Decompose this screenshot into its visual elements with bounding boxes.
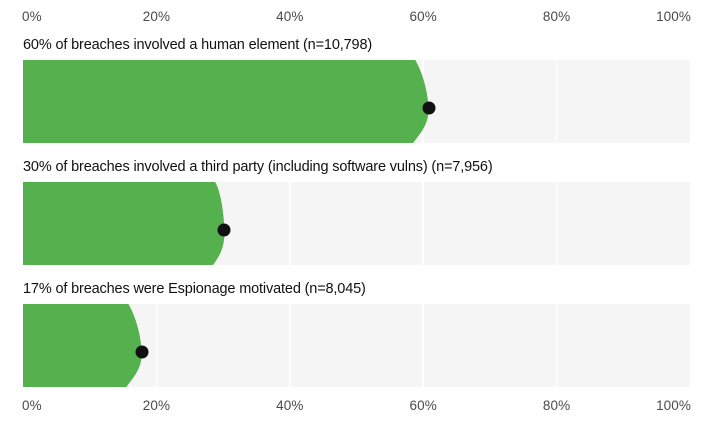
axis-top-tick-100: 100% (656, 8, 691, 26)
axis-top-tick-40: 40% (276, 8, 303, 26)
gridline (422, 60, 424, 143)
bar-fill (23, 304, 156, 387)
axis-bottom-tick-60: 60% (410, 397, 437, 415)
bar-track (23, 182, 690, 265)
axis-bottom-tick-0: 0% (22, 397, 42, 415)
gridline (156, 60, 158, 143)
axis-bottom-tick-40: 40% (276, 397, 303, 415)
gridline (156, 182, 158, 265)
gridline (289, 182, 291, 265)
bar-fill (23, 60, 443, 143)
gridline (156, 304, 158, 387)
gridline (556, 182, 558, 265)
point-marker (218, 224, 231, 237)
gridline (556, 60, 558, 143)
axis-top: 0% 20% 40% 60% 80% 100% (0, 8, 728, 26)
axis-top-tick-20: 20% (143, 8, 170, 26)
bar-label: 60% of breaches involved a human element… (23, 36, 372, 54)
point-marker (422, 102, 435, 115)
gridline (422, 304, 424, 387)
bar-fill (23, 182, 239, 265)
breach-statistics-chart: 0% 20% 40% 60% 80% 100% 60% of breaches … (0, 0, 728, 430)
bar-label: 17% of breaches were Espionage motivated… (23, 280, 366, 298)
gridline (556, 304, 558, 387)
axis-top-tick-0: 0% (22, 8, 42, 26)
point-marker (135, 346, 148, 359)
bar-track (23, 304, 690, 387)
gridline (422, 182, 424, 265)
axis-bottom-tick-100: 100% (656, 397, 691, 415)
bar-track (23, 60, 690, 143)
gridline (289, 304, 291, 387)
axis-bottom: 0% 20% 40% 60% 80% 100% (0, 397, 728, 415)
axis-top-tick-60: 60% (410, 8, 437, 26)
axis-bottom-tick-80: 80% (543, 397, 570, 415)
bar-label: 30% of breaches involved a third party (… (23, 158, 493, 176)
axis-top-tick-80: 80% (543, 8, 570, 26)
gridline (289, 60, 291, 143)
axis-bottom-tick-20: 20% (143, 397, 170, 415)
